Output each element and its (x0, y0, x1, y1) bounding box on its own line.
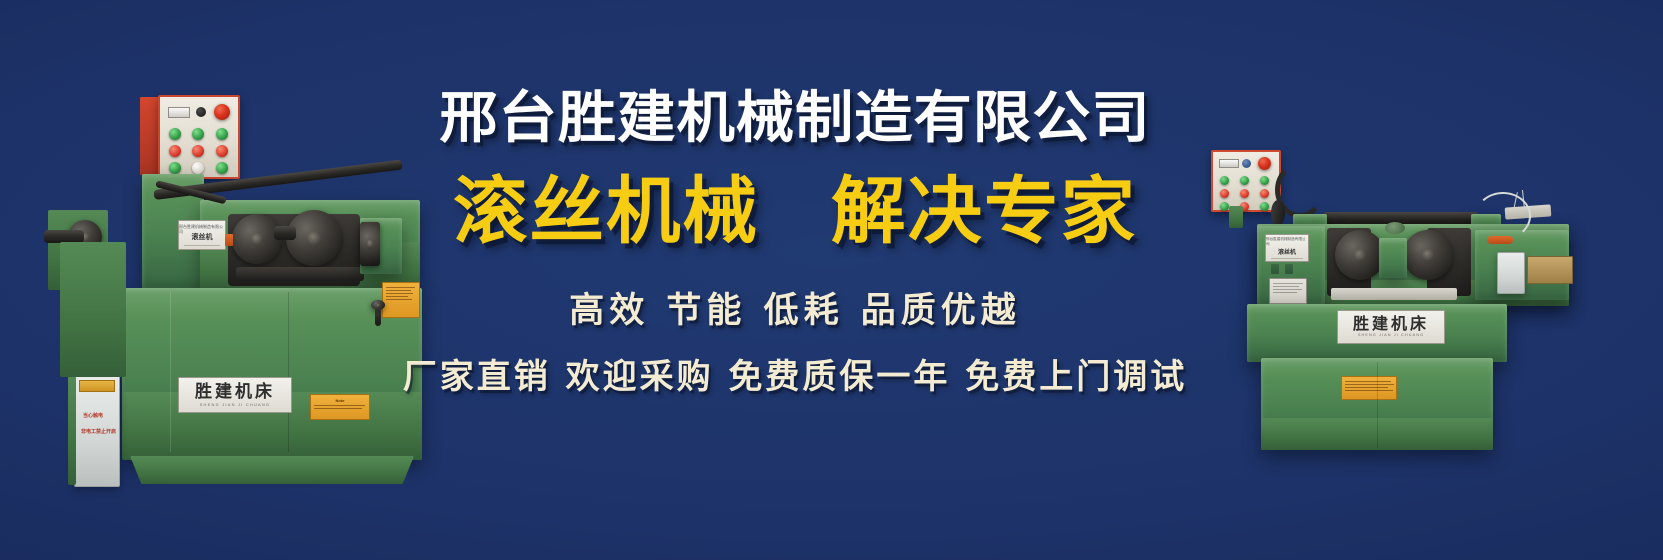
switch-tab[interactable] (1271, 264, 1279, 274)
die-spacer (274, 226, 296, 240)
panel-button[interactable] (1240, 176, 1249, 185)
brand-nameplate-cn: 胜建机床 (195, 384, 275, 401)
cabinet-warning-text2: 非电工禁止开启 (81, 428, 116, 435)
headline-right: 解决专家 (831, 175, 1137, 248)
panel-button[interactable] (1220, 176, 1229, 185)
spec-plate-upper: 邢台胜建机械制造有限公司 滚丝机 (1265, 234, 1309, 262)
roller-die-left (1335, 230, 1385, 280)
spec-plate-upper: 邢台胜建机械制造有限公司 滚丝机 (178, 220, 226, 250)
emergency-stop-button[interactable] (214, 104, 230, 120)
roller-die-right (1403, 230, 1453, 280)
brand-nameplate: 胜建机床 SHENG JIAN JI CHUANG (178, 377, 292, 413)
panel-display (1219, 159, 1239, 168)
panel-button-grid[interactable] (169, 128, 229, 174)
die-bed (236, 267, 364, 281)
spec-plate-line: 邢台胜建机械制造有限公司 (1266, 237, 1308, 246)
brand-nameplate-cn: 胜建机床 (1353, 316, 1429, 332)
panel-button[interactable] (1240, 189, 1249, 198)
coolant-tube (1475, 192, 1531, 240)
center-guide (1379, 238, 1407, 278)
feed-slide (1497, 252, 1525, 294)
cabinet-warning-text: 当心触电 (83, 412, 103, 419)
spec-plate-line: 邢台胜建机械制造有限公司 (179, 224, 225, 234)
cable-boot (1271, 200, 1285, 226)
spec-plate-divider (184, 245, 221, 246)
panel-button-grid[interactable] (1220, 176, 1272, 211)
cabinet-side (68, 375, 76, 485)
machine-skirt (130, 456, 414, 484)
panel-selector-knob[interactable] (196, 107, 206, 117)
spec-plate-model: 滚丝机 (192, 234, 213, 242)
electrical-cabinet: 当心触电 非电工禁止开启 (74, 375, 120, 487)
subtitle-line-1: 高效 节能 低耗 品质优越 (400, 282, 1190, 333)
panel-button[interactable] (1260, 176, 1269, 185)
machine-left-image: 邢台胜建机械制造有限公司 滚丝机 胜建机床 SHENG JIAN JI CHUA… (30, 92, 430, 472)
body-seam (170, 292, 171, 452)
spec-plate-divider (1271, 258, 1304, 259)
panel-button[interactable] (216, 162, 228, 174)
panel-selector-knob[interactable] (1242, 159, 1251, 168)
bronze-plate (1527, 256, 1573, 284)
brand-nameplate-pinyin: SHENG JIAN JI CHUANG (1358, 334, 1424, 338)
headline-text-block: 邢台胜建机械制造有限公司 滚丝机械 解决专家 高效 节能 低耗 品质优越 厂家直… (400, 90, 1190, 398)
control-panel[interactable] (158, 95, 240, 179)
emergency-stop-button[interactable] (1258, 157, 1271, 170)
base-seam (1377, 362, 1378, 448)
panel-button[interactable] (169, 145, 181, 157)
warning-label-title: Note (311, 398, 369, 403)
cabinet-label (79, 380, 115, 392)
spec-plate-model: 滚丝机 (1278, 247, 1296, 256)
panel-button[interactable] (1260, 202, 1269, 211)
switch-tab[interactable] (1285, 264, 1293, 274)
left-wing (60, 242, 126, 377)
panel-button[interactable] (169, 162, 181, 174)
valve-stem (375, 308, 381, 326)
top-cross-bar (1323, 212, 1479, 224)
headline-left: 滚丝机械 (453, 175, 759, 248)
warning-label: Note (310, 394, 370, 420)
motor-shaft (360, 222, 380, 266)
panel-button[interactable] (1220, 189, 1229, 198)
machine-right-image: 邢台胜建机械制造有限公司 滚丝机 胜建机床 SHENG JIAN JI CHUA… (1175, 130, 1575, 450)
brand-nameplate-pinyin: SHENG JIAN JI CHUANG (200, 403, 271, 407)
panel-button[interactable] (192, 145, 204, 157)
panel-button[interactable] (1260, 189, 1269, 198)
panel-button[interactable] (192, 128, 204, 140)
promo-banner: 邢台胜建机械制造有限公司 滚丝机 胜建机床 SHENG JIAN JI CHUA… (0, 0, 1663, 560)
valve-knob (371, 300, 385, 310)
work-support-tray (1331, 288, 1457, 300)
headline-row: 滚丝机械 解决专家 (400, 175, 1190, 248)
company-title: 邢台胜建机械制造有限公司 (384, 90, 1206, 149)
warning-label (1341, 376, 1397, 400)
control-panel[interactable] (1211, 150, 1281, 212)
panel-button[interactable] (216, 128, 228, 140)
panel-button[interactable] (216, 145, 228, 157)
parameter-label (1269, 278, 1307, 304)
panel-display (168, 107, 190, 118)
body-seam (288, 292, 289, 452)
panel-button[interactable] (169, 128, 181, 140)
center-cap (1385, 222, 1405, 234)
panel-button[interactable] (192, 162, 204, 174)
brand-nameplate: 胜建机床 SHENG JIAN JI CHUANG (1337, 310, 1445, 344)
red-indicator-tab (225, 234, 233, 246)
subtitle-line-2: 厂家直销 欢迎采购 免费质保一年 免费上门调试 (400, 349, 1190, 398)
panel-button[interactable] (1220, 202, 1229, 211)
panel-stand (1229, 206, 1243, 228)
